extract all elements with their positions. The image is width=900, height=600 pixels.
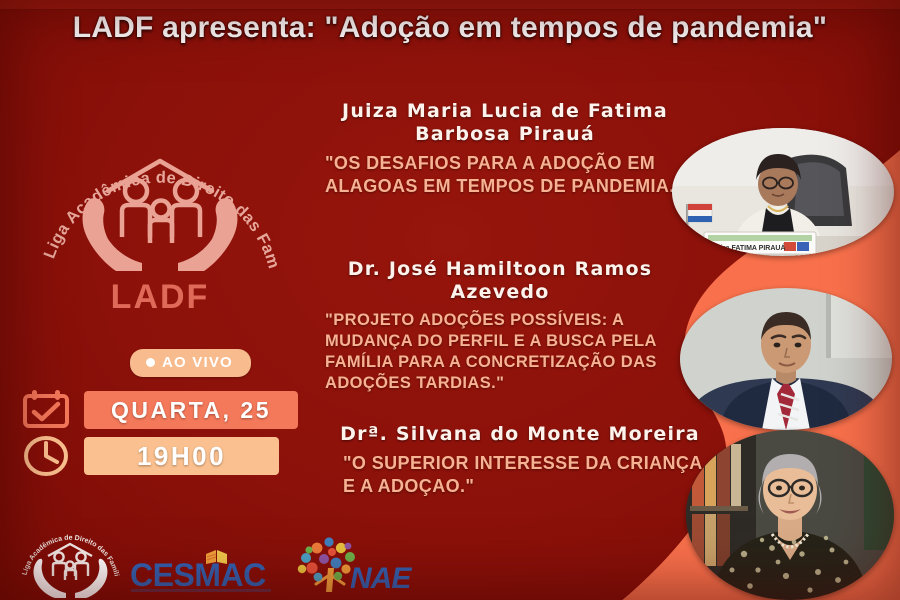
- cesmac-wordmark: CESMAC: [130, 557, 266, 592]
- speaker-name: Juiza Maria Lucia de Fatima Barbosa Pira…: [325, 100, 685, 146]
- speaker-quote: "O SUPERIOR INTERESSE DA CRIANÇA E A ADO…: [325, 452, 715, 497]
- speaker-quote: "OS DESAFIOS PARA A ADOÇÃO EM ALAGOAS EM…: [325, 152, 685, 197]
- svg-text:Liga Acadêmica de Direito das: Liga Acadêmica de Direito das Famílias: [30, 125, 283, 271]
- top-accent-band: [0, 0, 900, 10]
- live-dot-icon: [146, 358, 155, 367]
- ladf-wordmark: LADF: [111, 278, 210, 315]
- footer-logos: Liga Acadêmica de Direito das Famílias C…: [0, 530, 460, 600]
- event-time-label: 19H00: [84, 437, 279, 475]
- speaker-name: Drª. Silvana do Monte Moreira: [325, 423, 715, 446]
- live-badge: AO VIVO: [130, 349, 251, 377]
- speaker-name: Dr. José Hamiltoon Ramos Azevedo: [325, 258, 675, 304]
- speaker-photo-1: Juíza FATIMA PIRAUÁ: [672, 128, 894, 256]
- nae-logo: NAE: [288, 534, 438, 596]
- live-label: AO VIVO: [162, 354, 233, 371]
- speaker-quote: "PROJETO ADOÇÕES POSSÍVEIS: A MUDANÇA DO…: [325, 310, 675, 393]
- speaker-photo-3: [686, 430, 894, 600]
- cesmac-logo: CESMAC: [128, 548, 293, 592]
- ladf-logo: Liga Acadêmica de Direito das Famílias L…: [30, 125, 290, 315]
- ladf-logo-footer: Liga Acadêmica de Direito das Famílias: [18, 530, 123, 598]
- speaker-block-3: Drª. Silvana do Monte Moreira "O SUPERIO…: [325, 423, 715, 498]
- event-date-label: QUARTA, 25: [84, 391, 298, 429]
- event-poster: LADF apresenta: "Adoção em tempos de pan…: [0, 0, 900, 600]
- speaker-block-2: Dr. José Hamiltoon Ramos Azevedo "PROJET…: [325, 258, 675, 393]
- speaker-block-1: Juiza Maria Lucia de Fatima Barbosa Pira…: [325, 100, 685, 198]
- poster-title: LADF apresenta: "Adoção em tempos de pan…: [40, 10, 860, 47]
- event-time-row: 19H00: [20, 434, 279, 478]
- clock-icon: [20, 434, 72, 478]
- calendar-check-icon: [20, 388, 72, 432]
- nae-wordmark: NAE: [350, 562, 412, 595]
- speaker-photo-2: [680, 288, 892, 430]
- event-date-row: QUARTA, 25: [20, 388, 298, 432]
- ladf-arc-text: Liga Acadêmica de Direito das Famílias: [30, 125, 283, 271]
